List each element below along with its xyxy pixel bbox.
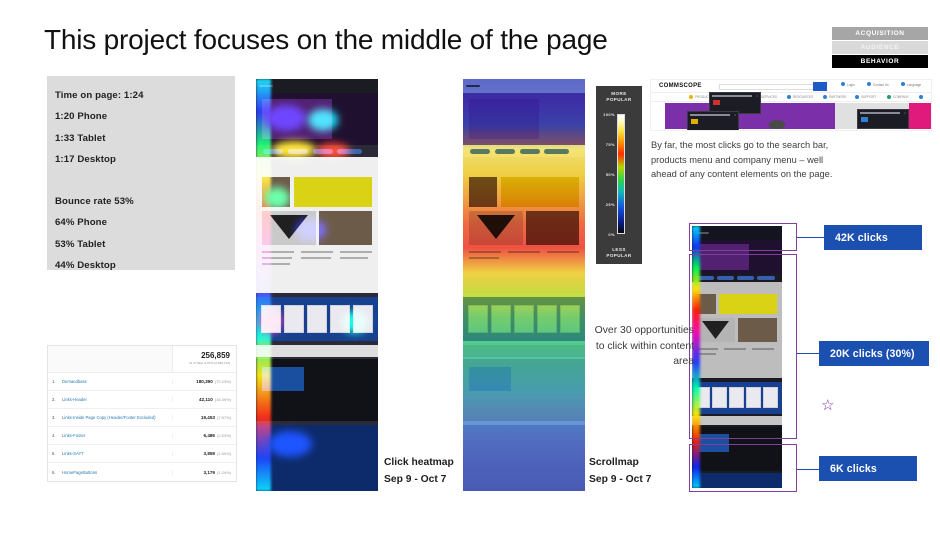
legend-tick: 100%: [603, 112, 615, 117]
row-percent: (2.53%): [217, 433, 231, 438]
row-count: 180,390: [196, 379, 213, 384]
site-search-input[interactable]: [719, 84, 821, 90]
click-marker-icon: [855, 95, 859, 99]
nav-company[interactable]: COMPANY: [893, 95, 909, 99]
row-value: 6,486(2.53%): [172, 433, 236, 438]
legend-ticks: 100% 75% 50% 25% 0%: [599, 110, 615, 238]
stat-bounce-tablet: 53% Tablet: [55, 234, 235, 255]
dark-section-image: [262, 367, 304, 391]
star-icon: ☆: [821, 398, 834, 413]
table-row[interactable]: 5. Links-SAYT 3,859(1.50%): [48, 445, 236, 463]
right-annotation-text: By far, the most clicks go to the search…: [651, 138, 841, 182]
table-row[interactable]: 3. Links-Inside Page Copy (Header/Footer…: [48, 409, 236, 427]
row-count: 3,859: [203, 451, 215, 456]
tile[interactable]: [330, 305, 350, 333]
legend-tick: 50%: [606, 172, 615, 177]
scrollmap-caption: Scrollmap Sep 9 - Oct 7: [589, 454, 651, 488]
legend-top-line2: POPULAR: [596, 97, 642, 103]
table-header-row: 256,859 % of Total: 9.97% (2,640,713): [48, 346, 236, 373]
legend-gradient-bar: [617, 114, 625, 234]
nav-row: [261, 149, 373, 154]
stat-time-desktop: 1:17 Desktop: [55, 149, 235, 170]
row-percent: (7.57%): [217, 415, 231, 420]
content-image: [262, 177, 290, 207]
legend-bottom-label: LESS POPULAR: [596, 247, 642, 259]
callout-leader-line: [797, 353, 819, 354]
legend-top-label: MORE POPULAR: [596, 91, 642, 103]
nav-legend-item-acquisition[interactable]: ACQUISITION: [832, 27, 928, 40]
row-count: 3,179: [203, 470, 215, 475]
tooltip-swatch: [691, 119, 698, 124]
tooltip-title-bar: [712, 95, 752, 97]
highlight-box-content: [689, 254, 797, 439]
click-marker-icon: [901, 82, 905, 86]
content-image: [294, 177, 372, 207]
text-line: [262, 257, 292, 259]
caption-title: Click heatmap: [384, 454, 454, 471]
commscope-banner-screenshot[interactable]: COMMSCOPE Login Contact Us Language PROD…: [650, 79, 932, 131]
nav-pill[interactable]: [337, 149, 362, 154]
row-percent: (1.24%): [217, 470, 231, 475]
scrollmap-thumbnail[interactable]: [463, 79, 585, 491]
row-percent: (70.23%): [215, 379, 231, 384]
table-header-total: 256,859 % of Total: 9.97% (2,640,713): [172, 346, 236, 372]
stat-time-tablet: 1:33 Tablet: [55, 128, 235, 149]
row-label-link[interactable]: Links-Header: [62, 397, 172, 402]
row-value: 3,179(1.24%): [172, 470, 236, 475]
tooltip-swatch: [713, 100, 720, 105]
tile[interactable]: [261, 305, 281, 333]
click-marker-icon: [867, 82, 871, 86]
close-icon[interactable]: ×: [734, 113, 736, 117]
hero-image: [262, 99, 332, 139]
row-index: 3.: [48, 415, 62, 420]
utility-contact[interactable]: Contact Us: [873, 83, 889, 87]
callout-42k: 42K clicks: [824, 225, 922, 250]
table-row[interactable]: 2. Links-Header 42,110(16.39%): [48, 391, 236, 409]
callout-20k: 20K clicks (30%): [819, 341, 929, 366]
text-line: [301, 257, 331, 259]
caption-dates: Sep 9 - Oct 7: [589, 471, 651, 488]
tooltip-title-bar: [860, 112, 900, 114]
click-marker-icon: [823, 95, 827, 99]
nav-services[interactable]: SERVICES: [761, 95, 777, 99]
row-label-link[interactable]: Links-Footer: [62, 433, 172, 438]
site-topbar: COMMSCOPE Login Contact Us Language: [651, 80, 931, 93]
caption-title: Scrollmap: [589, 454, 651, 471]
highlight-box-footer: [689, 444, 797, 492]
slide-canvas: This project focuses on the middle of th…: [0, 0, 940, 560]
row-label-link[interactable]: Links-SAYT: [62, 451, 172, 456]
scrollmap-overlay: [463, 79, 585, 491]
scrollmap-legend: MORE POPULAR 100% 75% 50% 25% 0% LESS PO…: [596, 86, 642, 264]
text-line: [340, 251, 372, 253]
row-percent: (1.50%): [217, 451, 231, 456]
table-total-value: 256,859: [173, 351, 230, 360]
row-label-link[interactable]: HomePageButtons: [62, 470, 172, 475]
cursor-graphic: [769, 120, 785, 129]
table-header-dimension: [48, 346, 172, 372]
row-value: 42,110(16.39%): [172, 397, 236, 402]
stats-panel: Time on page: 1:24 1:20 Phone 1:33 Table…: [47, 76, 235, 270]
commscope-logo[interactable]: COMMSCOPE: [659, 83, 702, 89]
utility-login[interactable]: Login: [847, 83, 855, 87]
nav-legend: ACQUISITION AUDIENCE BEHAVIOR: [832, 27, 928, 69]
row-index: 2.: [48, 397, 62, 402]
nav-pill[interactable]: [263, 149, 283, 154]
tile[interactable]: [284, 305, 304, 333]
table-total-subtext: % of Total: 9.97% (2,640,713): [173, 361, 230, 365]
row-value: 3,859(1.50%): [172, 451, 236, 456]
subnav-band: [256, 345, 378, 357]
click-marker-icon: [841, 82, 845, 86]
legend-bottom-line2: POPULAR: [596, 253, 642, 259]
click-marker-icon: [689, 95, 693, 99]
nav-legend-item-audience[interactable]: AUDIENCE: [832, 41, 928, 54]
table-row[interactable]: 1. Demandbase 180,390(70.23%): [48, 373, 236, 391]
row-index: 6.: [48, 470, 62, 475]
site-navbar: PRODUCTS SOLUTIONS SERVICES RESOURCES PA…: [651, 93, 931, 102]
row-count: 6,486: [203, 433, 215, 438]
stat-bounce-rate: Bounce rate 53%: [55, 191, 235, 212]
close-icon[interactable]: ×: [904, 111, 906, 115]
stat-time-phone: 1:20 Phone: [55, 106, 235, 127]
table-row[interactable]: 6. HomePageButtons 3,179(1.24%): [48, 463, 236, 481]
click-heatmap-thumbnail[interactable]: [256, 79, 378, 491]
callout-6k: 6K clicks: [819, 456, 917, 481]
caption-dates: Sep 9 - Oct 7: [384, 471, 454, 488]
callout-leader-line: [797, 237, 824, 238]
hero-accent-block: [909, 103, 932, 129]
tile[interactable]: [307, 305, 327, 333]
tile[interactable]: [353, 305, 373, 333]
footer-band: [256, 425, 378, 491]
text-line: [262, 251, 294, 253]
heatmap-tooltip: ×: [857, 109, 909, 129]
legend-tick: 75%: [606, 142, 615, 147]
table-row[interactable]: 4. Links-Footer 6,486(2.53%): [48, 427, 236, 445]
stat-time-on-page: Time on page: 1:24: [55, 85, 235, 106]
row-percent: (16.39%): [215, 397, 231, 402]
heatmap-page-mock: [256, 79, 378, 491]
nav-legend-item-behavior[interactable]: BEHAVIOR: [832, 55, 928, 68]
click-marker-icon: [919, 95, 923, 99]
analytics-table: 256,859 % of Total: 9.97% (2,640,713) 1.…: [47, 345, 237, 482]
window-dots: [259, 85, 273, 87]
row-index: 1.: [48, 379, 62, 384]
row-count: 42,110: [199, 397, 213, 402]
close-icon[interactable]: ×: [756, 94, 758, 98]
row-index: 5.: [48, 451, 62, 456]
heatmap-tooltip: ×: [687, 111, 739, 131]
legend-tick: 0%: [608, 232, 615, 237]
page-title: This project focuses on the middle of th…: [44, 24, 608, 56]
nav-pill[interactable]: [288, 149, 308, 154]
stat-bounce-phone: 64% Phone: [55, 212, 235, 233]
legend-tick: 25%: [606, 202, 615, 207]
click-marker-icon: [887, 95, 891, 99]
callout-leader-line: [797, 469, 819, 470]
content-image: [319, 211, 372, 245]
stats-spacer: [55, 170, 235, 191]
search-icon[interactable]: [813, 82, 827, 91]
utility-language[interactable]: Language: [907, 83, 921, 87]
nav-resources[interactable]: RESOURCES: [793, 95, 813, 99]
row-label-link[interactable]: Links-Inside Page Copy (Header/Footer Ex…: [62, 415, 172, 420]
row-label-link[interactable]: Demandbase: [62, 379, 172, 384]
click-heatmap-caption: Click heatmap Sep 9 - Oct 7: [384, 454, 454, 488]
row-value: 19,453(7.57%): [172, 415, 236, 420]
row-value: 180,390(70.23%): [172, 379, 236, 384]
tooltip-swatch: [861, 117, 868, 122]
row-index: 4.: [48, 433, 62, 438]
text-line: [340, 257, 368, 259]
click-marker-icon: [787, 95, 791, 99]
tooltip-title-bar: [690, 114, 730, 116]
text-line: [262, 263, 290, 265]
nav-partners[interactable]: PARTNERS: [829, 95, 846, 99]
nav-pill[interactable]: [313, 149, 333, 154]
nav-support[interactable]: SUPPORT: [861, 95, 876, 99]
stat-bounce-desktop: 44% Desktop: [55, 255, 235, 276]
center-annotation-text: Over 30 opportunities to click within co…: [586, 323, 694, 370]
highlight-box-header: [689, 223, 797, 251]
text-line: [301, 251, 333, 253]
browser-chrome: [256, 79, 378, 93]
row-count: 19,453: [201, 415, 215, 420]
